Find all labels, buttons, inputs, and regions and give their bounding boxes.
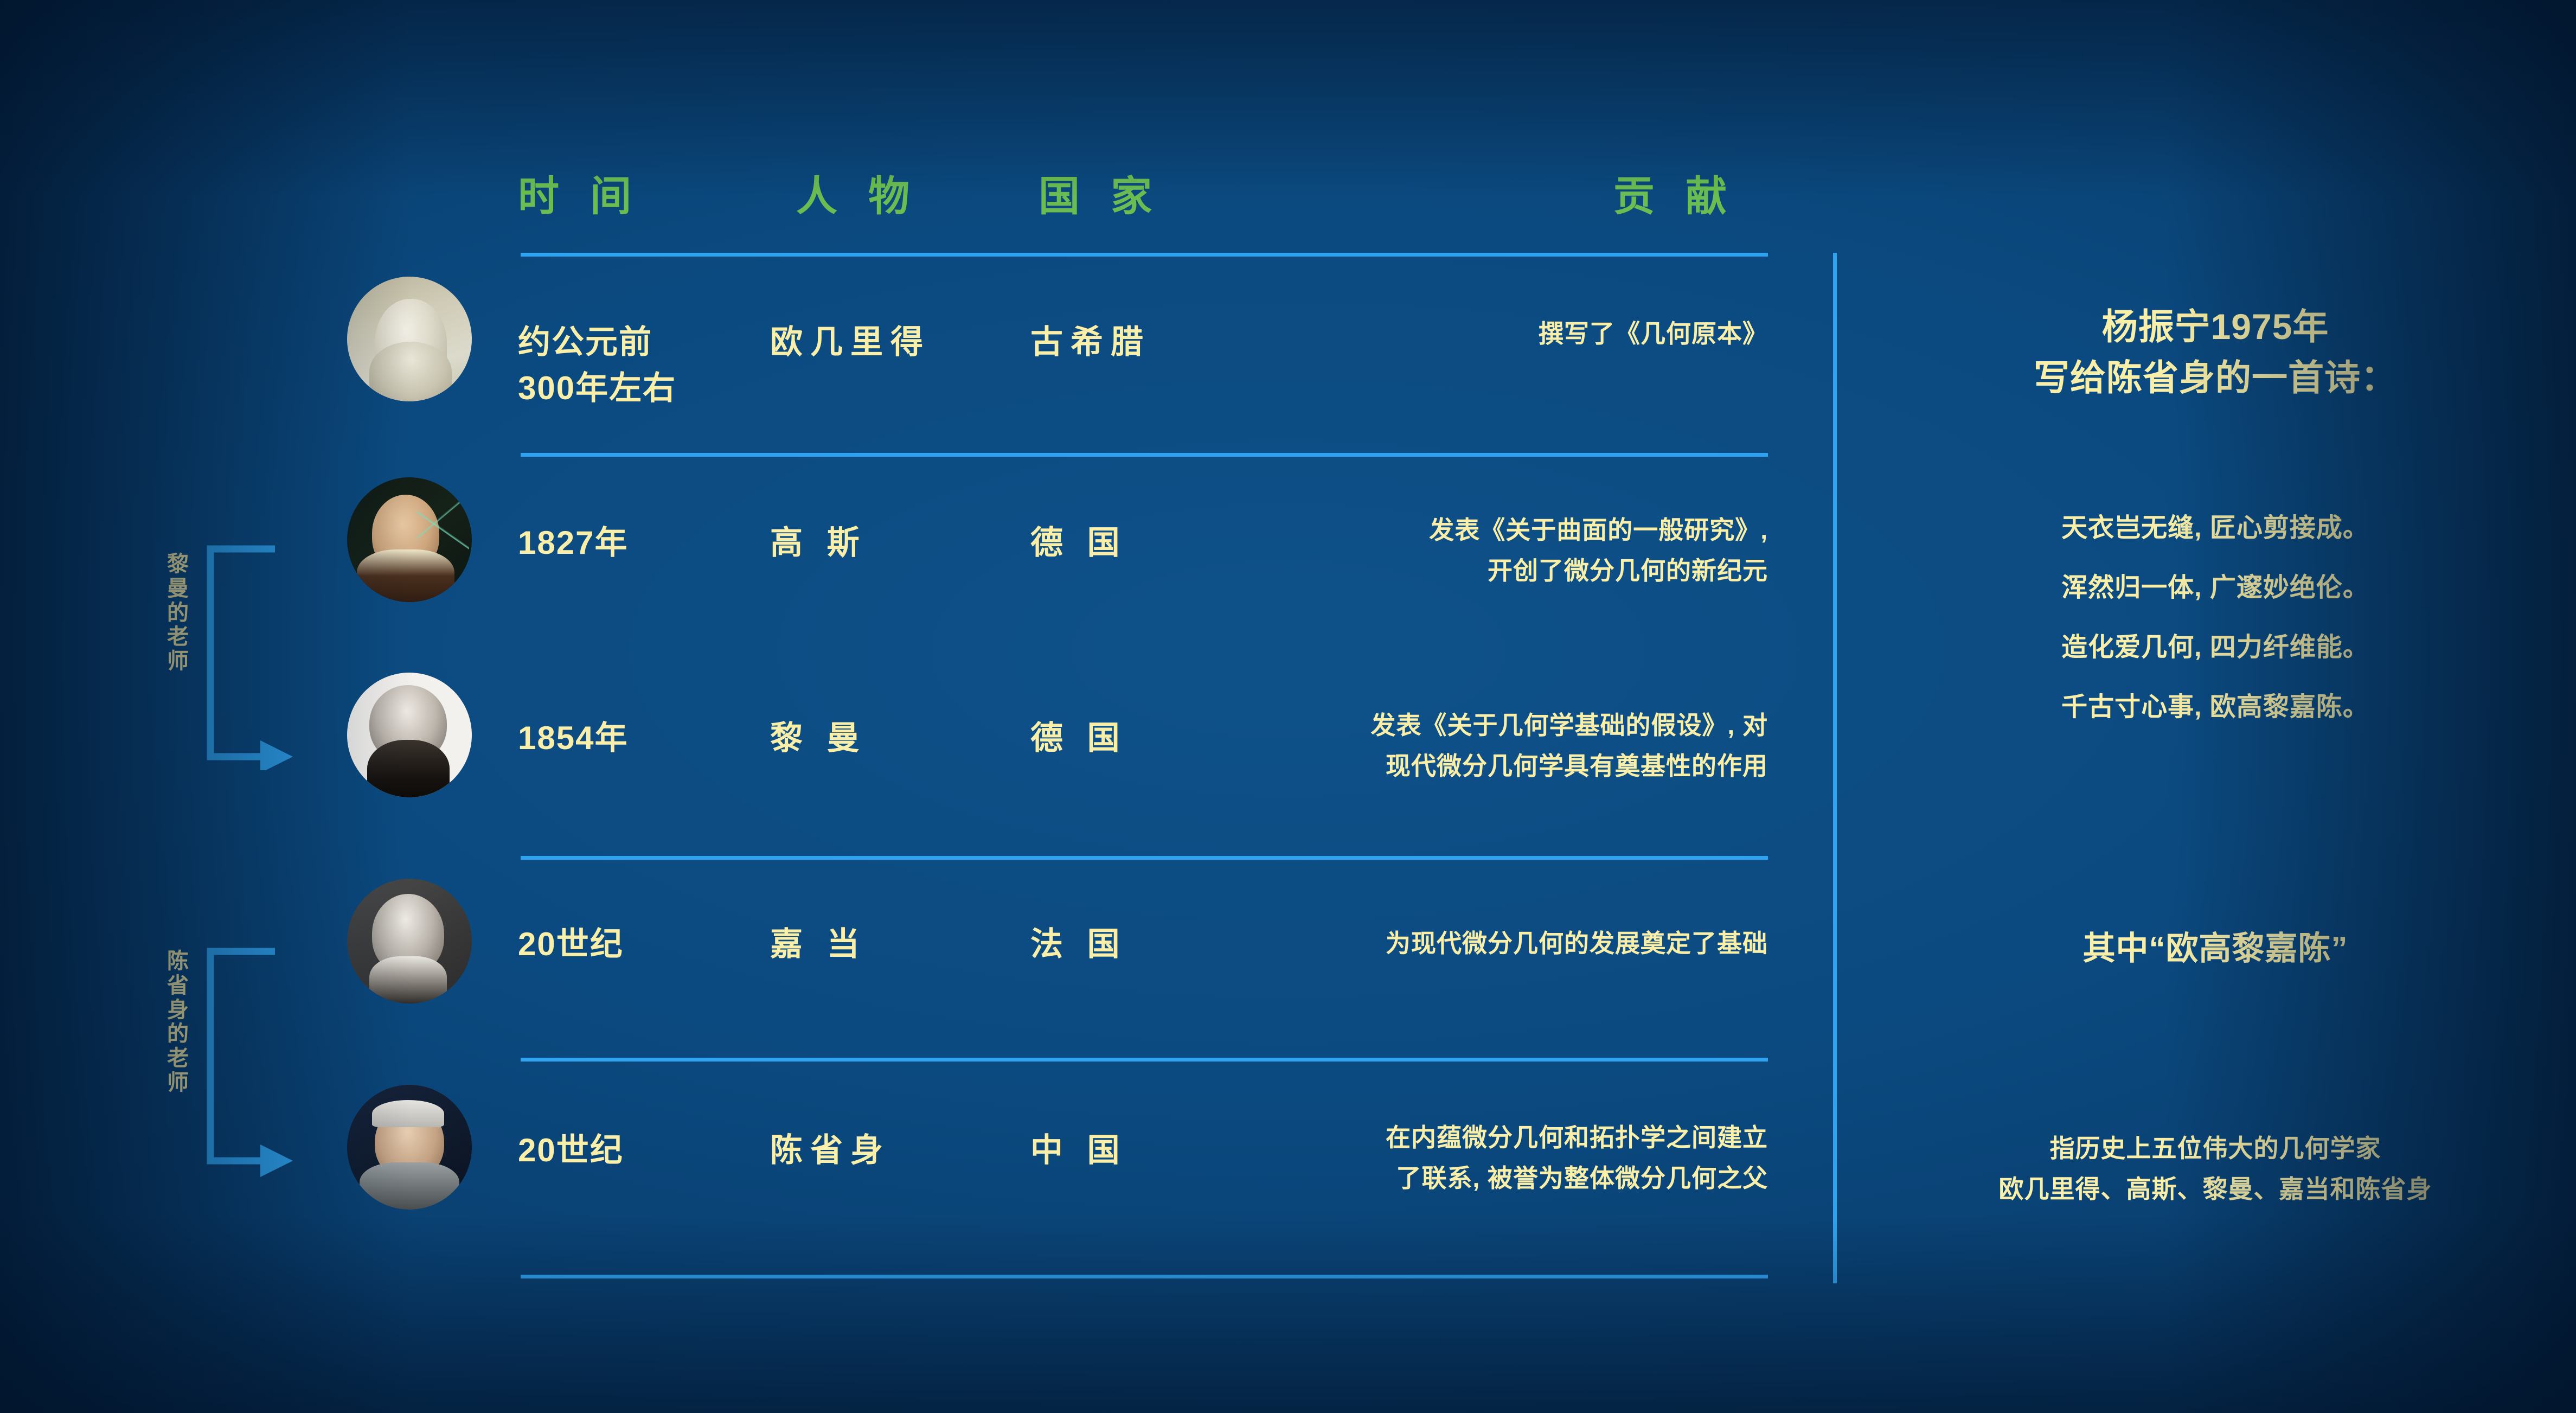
cell-country: 德 国 xyxy=(1030,715,1127,761)
poem-panel: 杨振宁1975年 写给陈省身的一首诗： 天衣岂无缝, 匠心剪接成。 浑然归一体,… xyxy=(1855,0,2576,1413)
divider-row-4 xyxy=(521,1058,1768,1062)
divider-top xyxy=(521,253,1768,257)
cell-contribution: 撰写了《几何原本》 xyxy=(1171,314,1768,354)
gauss-portrait xyxy=(347,477,472,602)
cell-country: 古希腊 xyxy=(1030,319,1151,365)
divider-row-1 xyxy=(521,453,1768,457)
cell-time: 1827年 xyxy=(518,520,628,566)
annotation-chern-teacher: 陈 省 身 的 老 师 xyxy=(152,945,358,1184)
table-header-row: 时 间 人 物 国 家 贡 献 xyxy=(0,163,1844,222)
riemann-portrait xyxy=(347,673,472,797)
cell-person: 高 斯 xyxy=(770,520,867,566)
annotation-label-riemann-teacher: 黎 曼 的 老 师 xyxy=(164,552,192,674)
annotation-char: 师 xyxy=(164,1071,192,1095)
cell-person: 黎 曼 xyxy=(770,715,867,761)
cell-country: 法 国 xyxy=(1030,921,1127,967)
column-header-contribution: 贡 献 xyxy=(1613,163,1736,222)
cell-contribution: 发表《关于几何学基础的假设》, 对 现代微分几何学具有奠基性的作用 xyxy=(1171,705,1768,786)
cell-contribution: 在内蕴微分几何和拓扑学之间建立 了联系, 被誉为整体微分几何之父 xyxy=(1171,1117,1768,1198)
annotation-char: 老 xyxy=(164,1046,192,1071)
annotation-riemann-teacher: 黎 曼 的 老 师 xyxy=(152,542,358,770)
annotation-char: 陈 xyxy=(164,949,192,974)
panel-subtitle: 其中“欧高黎嘉陈” xyxy=(1855,922,2576,969)
annotation-char: 曼 xyxy=(164,577,192,601)
cartan-portrait xyxy=(347,879,472,1003)
poem-line: 浑然归一体, 广邃妙绝伦。 xyxy=(1855,575,2576,601)
cell-contribution: 为现代微分几何的发展奠定了基础 xyxy=(1171,923,1768,964)
annotation-char: 黎 xyxy=(164,552,192,577)
cell-country: 德 国 xyxy=(1030,520,1127,566)
euclid-portrait xyxy=(347,277,472,401)
cell-person: 嘉 当 xyxy=(770,921,867,967)
cell-country: 中 国 xyxy=(1030,1127,1127,1173)
chern-portrait xyxy=(347,1085,472,1210)
poem-block: 天衣岂无缝, 匠心剪接成。 浑然归一体, 广邃妙绝伦。 造化爱几何, 四力纤维能… xyxy=(1855,515,2576,754)
teacher-arrow-icon xyxy=(206,945,358,1184)
annotation-char: 身 xyxy=(164,998,192,1022)
cell-person: 欧几里得 xyxy=(770,319,931,365)
cell-time: 20世纪 xyxy=(518,1127,624,1173)
panel-title: 杨振宁1975年 写给陈省身的一首诗： xyxy=(1855,302,2576,403)
annotation-char: 省 xyxy=(164,974,192,998)
annotation-char: 的 xyxy=(164,1022,192,1046)
cell-person: 陈省身 xyxy=(770,1127,890,1173)
poem-line: 千古寸心事, 欧高黎嘉陈。 xyxy=(1855,694,2576,720)
poem-line: 造化爱几何, 四力纤维能。 xyxy=(1855,635,2576,661)
infographic-canvas: 时 间 人 物 国 家 贡 献 约公元前 300年左右 欧几里得 古希腊 撰写了… xyxy=(0,0,2576,1413)
annotation-char: 师 xyxy=(164,649,192,674)
column-header-person: 人 物 xyxy=(796,163,919,222)
annotation-char: 老 xyxy=(164,625,192,649)
teacher-arrow-icon xyxy=(206,542,358,770)
column-header-country: 国 家 xyxy=(1039,163,1162,222)
panel-note: 指历史上五位伟大的几何学家 欧几里得、高斯、黎曼、嘉当和陈省身 xyxy=(1855,1128,2576,1209)
divider-row-3 xyxy=(521,856,1768,860)
column-header-time: 时 间 xyxy=(518,163,641,222)
cell-time: 约公元前 300年左右 xyxy=(518,319,676,411)
annotation-char: 的 xyxy=(164,601,192,625)
annotation-label-chern-teacher: 陈 省 身 的 老 师 xyxy=(164,949,192,1095)
poem-line: 天衣岂无缝, 匠心剪接成。 xyxy=(1855,515,2576,541)
cell-time: 20世纪 xyxy=(518,921,624,967)
panel-separator xyxy=(1833,253,1837,1283)
cell-time: 1854年 xyxy=(518,715,628,761)
divider-bottom xyxy=(521,1275,1768,1278)
cell-contribution: 发表《关于曲面的一般研究》, 开创了微分几何的新纪元 xyxy=(1171,510,1768,591)
